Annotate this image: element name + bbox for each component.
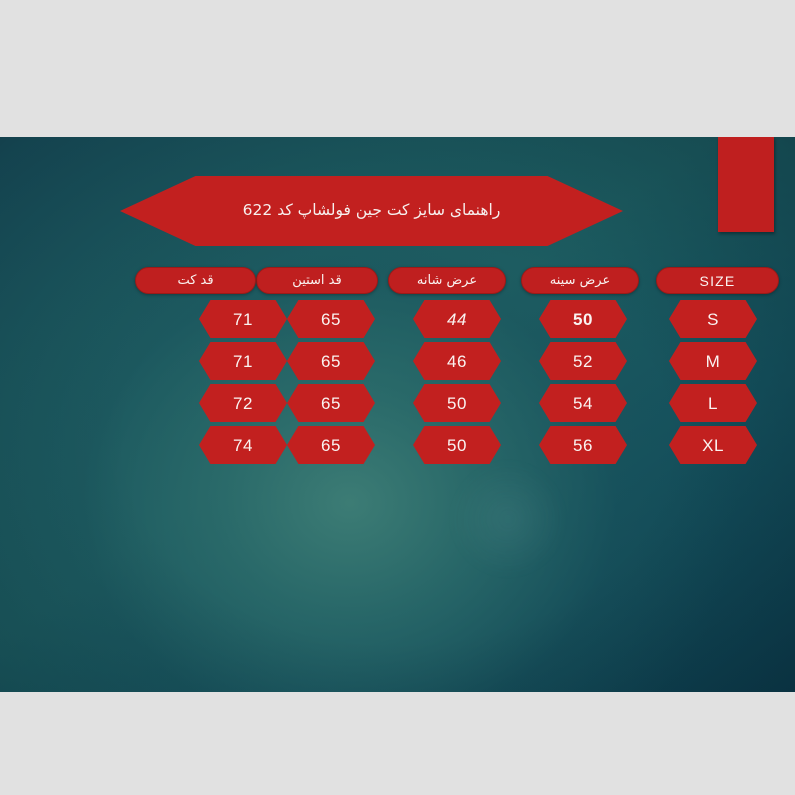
cell-value: 46 — [447, 353, 467, 370]
slide-background-glow — [453, 459, 563, 579]
column-header-size: SIZE — [656, 267, 779, 294]
cell-value: 50 — [447, 395, 467, 412]
cell-value: 71 — [233, 353, 253, 370]
column-header-jacket-length: قد کت — [135, 267, 256, 294]
cell-size: M — [669, 342, 757, 380]
cell-jacket-length: 72 — [199, 384, 287, 422]
column-header-label: قد کت — [177, 273, 213, 288]
table-header-row: SIZE عرض سینه عرض شانه قد استین قد کت — [0, 267, 795, 294]
slide-title: راهنمای سایز کت جین فولشاپ کد 622 — [203, 201, 541, 220]
accent-rectangle — [718, 137, 774, 232]
cell-value: 50 — [447, 437, 467, 454]
cell-value: 52 — [573, 353, 593, 370]
column-header-label: عرض شانه — [417, 273, 477, 288]
slide-page: راهنمای سایز کت جین فولشاپ کد 622 SIZE ع… — [0, 0, 795, 795]
cell-size: XL — [669, 426, 757, 464]
cell-jacket-length: 71 — [199, 342, 287, 380]
cell-value: 65 — [321, 353, 341, 370]
cell-value: 71 — [233, 311, 253, 328]
cell-sleeve-length: 65 — [287, 300, 375, 338]
column-header-chest-width: عرض سینه — [521, 267, 639, 294]
cell-value: 50 — [573, 311, 593, 328]
cell-value: 65 — [321, 311, 341, 328]
column-header-sleeve-length: قد استین — [256, 267, 378, 294]
cell-value: S — [707, 311, 719, 328]
cell-shoulder-width: 44 — [413, 300, 501, 338]
cell-chest-width: 50 — [539, 300, 627, 338]
cell-shoulder-width: 46 — [413, 342, 501, 380]
cell-value: M — [706, 353, 721, 370]
size-guide-table: SIZE عرض سینه عرض شانه قد استین قد کت — [0, 267, 795, 468]
cell-shoulder-width: 50 — [413, 384, 501, 422]
column-header-label: SIZE — [700, 273, 736, 289]
cell-value: 72 — [233, 395, 253, 412]
table-row: M 52 46 65 71 — [0, 342, 795, 380]
cell-size: S — [669, 300, 757, 338]
cell-value: 65 — [321, 395, 341, 412]
column-header-label: قد استین — [292, 273, 341, 288]
cell-value: 74 — [233, 437, 253, 454]
cell-sleeve-length: 65 — [287, 384, 375, 422]
cell-sleeve-length: 65 — [287, 342, 375, 380]
table-row: S 50 44 65 71 — [0, 300, 795, 338]
column-header-label: عرض سینه — [550, 273, 611, 288]
cell-jacket-length: 74 — [199, 426, 287, 464]
column-header-shoulder-width: عرض شانه — [388, 267, 506, 294]
cell-chest-width: 56 — [539, 426, 627, 464]
title-banner: راهنمای سایز کت جین فولشاپ کد 622 — [120, 176, 623, 246]
cell-value: XL — [702, 437, 724, 454]
cell-value: L — [708, 395, 718, 412]
cell-size: L — [669, 384, 757, 422]
cell-chest-width: 54 — [539, 384, 627, 422]
table-row: L 54 50 65 72 — [0, 384, 795, 422]
cell-value: 65 — [321, 437, 341, 454]
cell-sleeve-length: 65 — [287, 426, 375, 464]
cell-value: 54 — [573, 395, 593, 412]
cell-value: 56 — [573, 437, 593, 454]
cell-value: 44 — [447, 311, 467, 328]
cell-jacket-length: 71 — [199, 300, 287, 338]
cell-chest-width: 52 — [539, 342, 627, 380]
table-row: XL 56 50 65 74 — [0, 426, 795, 464]
slide-canvas: راهنمای سایز کت جین فولشاپ کد 622 SIZE ع… — [0, 137, 795, 692]
cell-shoulder-width: 50 — [413, 426, 501, 464]
